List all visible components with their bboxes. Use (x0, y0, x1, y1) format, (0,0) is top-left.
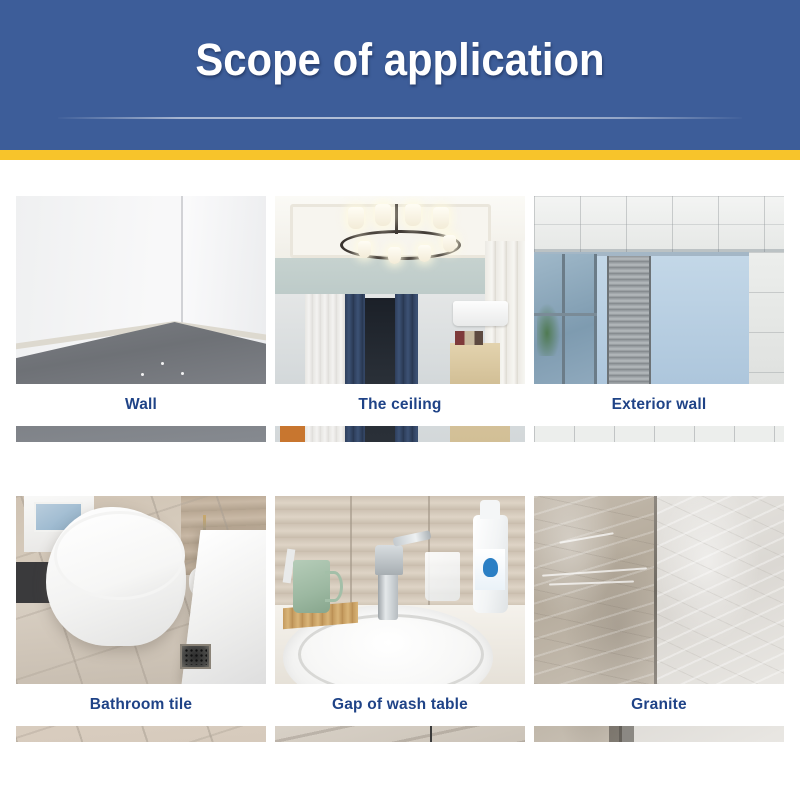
grid-row: Bathroom tile (0, 496, 800, 796)
application-scope-grid: Wall (0, 196, 800, 796)
photo-wash-table (275, 496, 525, 684)
yellow-accent-arc (0, 148, 800, 174)
scope-card-wall[interactable]: Wall (16, 196, 266, 442)
photo-sliver (16, 726, 266, 742)
page-header: Scope of application (0, 0, 800, 152)
scope-card-label: Granite (534, 696, 784, 714)
photo-sliver (16, 426, 266, 442)
photo-granite (534, 496, 784, 684)
grid-row: Wall (0, 196, 800, 496)
scope-card-gap-of-wash-table[interactable]: Gap of wash table (275, 496, 525, 742)
scope-card-label: Exterior wall (534, 396, 784, 414)
photo-sliver (275, 426, 525, 442)
scope-card-label: Wall (16, 396, 266, 414)
scope-card-bathroom-tile[interactable]: Bathroom tile (16, 496, 266, 742)
scope-card-granite[interactable]: Granite (534, 496, 784, 742)
photo-sliver (534, 726, 784, 742)
page-title: Scope of application (28, 34, 772, 86)
photo-ceiling (275, 196, 525, 384)
scope-card-label: Bathroom tile (16, 696, 266, 714)
scope-card-label: Gap of wash table (275, 696, 525, 714)
scope-card-label: The ceiling (275, 396, 525, 414)
photo-sliver (275, 726, 525, 742)
photo-sliver (534, 426, 784, 442)
scope-card-ceiling[interactable]: The ceiling (275, 196, 525, 442)
yellow-arc-mask (0, 160, 800, 174)
photo-exterior-wall (534, 196, 784, 384)
photo-wall (16, 196, 266, 384)
photo-bathroom-tile (16, 496, 266, 684)
scope-card-exterior-wall[interactable]: Exterior wall (534, 196, 784, 442)
header-divider (58, 117, 742, 119)
